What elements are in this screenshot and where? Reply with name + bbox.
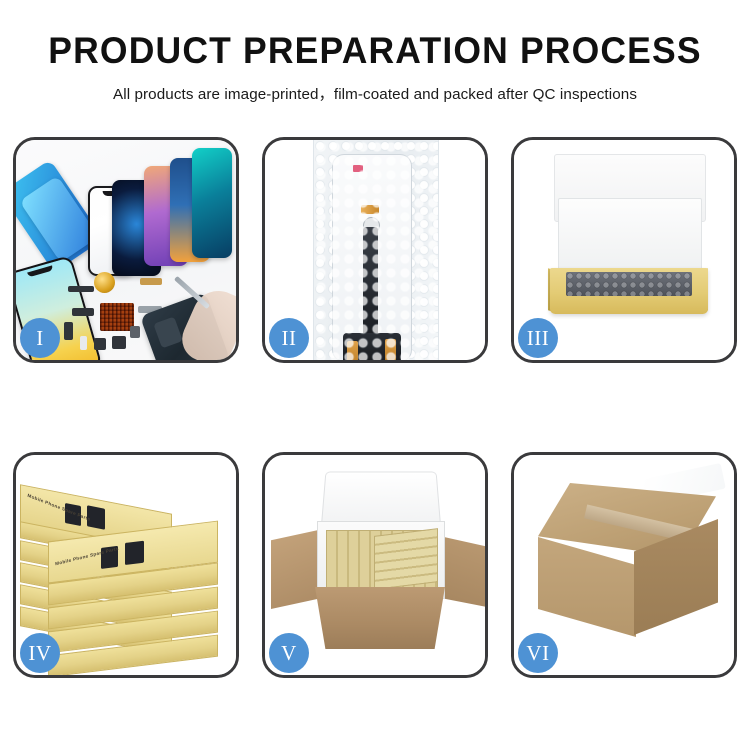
step-badge-6: VI [518,633,558,673]
page-header: PRODUCT PREPARATION PROCESS All products… [0,0,750,104]
box-label-top: Mobile Phone Spare Parts [27,493,91,522]
step-panel-4[interactable]: Mobile Phone Spare Parts Mobile Phone Sp… [13,452,239,678]
page-subtitle: All products are image-printed，film-coat… [0,82,750,104]
step-badge-1: I [20,318,60,358]
page-title: PRODUCT PREPARATION PROCESS [15,32,735,71]
step-panel-3[interactable]: III [511,137,737,363]
step-panel-2[interactable]: II [262,137,488,363]
step-badge-2: II [269,318,309,358]
step-badge-5: V [269,633,309,673]
step-panel-6[interactable]: VI [511,452,737,678]
step-panel-1[interactable]: I [13,137,239,363]
step-panel-5[interactable]: V [262,452,488,678]
step-badge-3: III [518,318,558,358]
step-badge-4: IV [20,633,60,673]
process-steps-grid: I II [13,137,737,678]
